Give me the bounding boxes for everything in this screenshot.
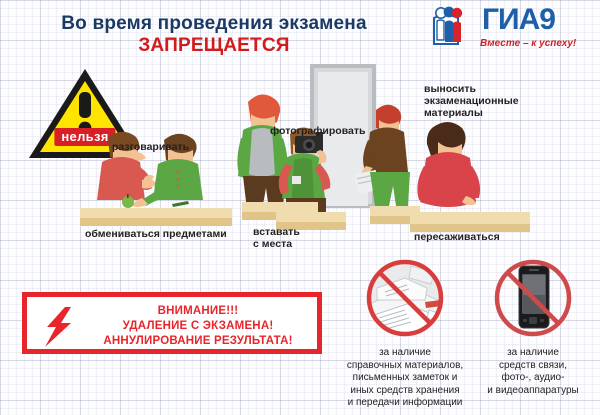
label-exchanging-items: обмениваться предметами — [85, 228, 227, 240]
attention-line-3: АННУЛИРОВАНИЕ РЕЗУЛЬТАТА! — [79, 334, 317, 349]
attention-line-2: УДАЛЕНИЕ С ЭКЗАМЕНА! — [79, 319, 317, 334]
label-standing-up: вставатьс места — [253, 226, 313, 250]
prohibition-caption-reference-materials: за наличиесправочных материалов,письменн… — [340, 347, 470, 410]
prohibition-caption-communication-devices: за наличиесредств связи,фото-, аудио-и в… — [468, 347, 598, 397]
logo-tagline: Вместе – к успеху! — [480, 38, 576, 49]
page-title: Во время проведения экзамена ЗАПРЕЩАЕТСЯ — [34, 13, 394, 57]
poster-canvas: Во время проведения экзамена ЗАПРЕЩАЕТСЯ… — [0, 0, 600, 415]
label-photographing: фотографировать — [270, 125, 365, 137]
lightning-bolt-icon — [41, 305, 81, 349]
gia9-logo: ГИА9 Вместе – к успеху! — [428, 2, 594, 54]
attention-line-1: ВНИМАНИЕ!!! — [79, 304, 317, 319]
title-line-1: Во время проведения экзамена — [34, 13, 394, 35]
no-phone-icon — [483, 258, 583, 343]
title-line-2: ЗАПРЕЩАЕТСЯ — [34, 35, 394, 57]
label-changing-seats: пересаживаться — [414, 231, 500, 243]
logo-figures-icon — [428, 4, 484, 46]
no-papers-icon — [355, 258, 455, 343]
prohibition-communication-devices: за наличиесредств связи,фото-, аудио-и в… — [468, 258, 598, 397]
label-removing-materials: выноситьэкзаменационныематериалы — [424, 83, 544, 119]
attention-box: ВНИМАНИЕ!!! УДАЛЕНИЕ С ЭКЗАМЕНА! АННУЛИР… — [22, 292, 322, 354]
prohibition-reference-materials: за наличиесправочных материалов,письменн… — [340, 258, 470, 410]
logo-wordmark: ГИА9 — [482, 4, 555, 36]
attention-text: ВНИМАНИЕ!!! УДАЛЕНИЕ С ЭКЗАМЕНА! АННУЛИР… — [79, 304, 317, 349]
label-talking: разговаривать — [112, 141, 189, 153]
